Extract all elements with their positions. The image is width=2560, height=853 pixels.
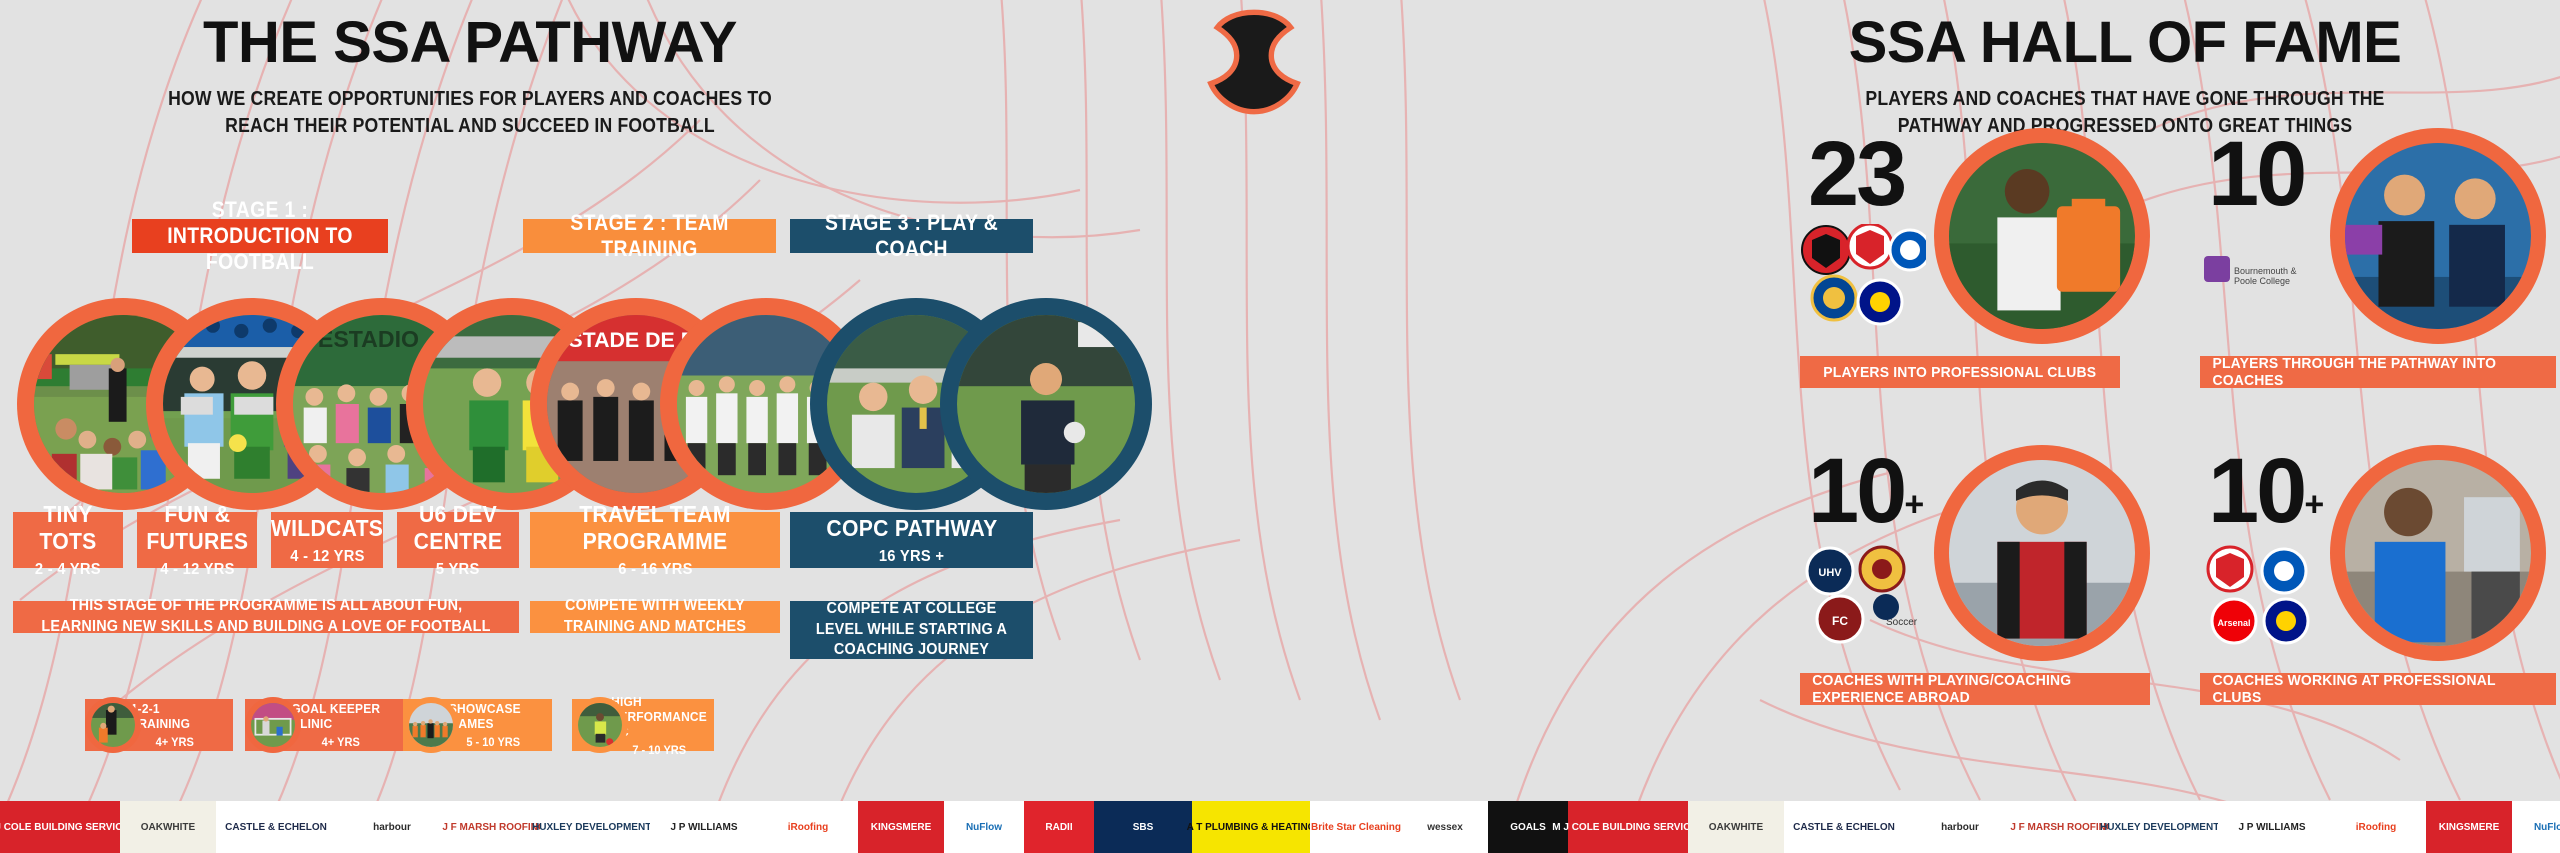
hall-of-fame-subtitle-line-1: PLAYERS AND COACHES THAT HAVE GONE THROU… <box>1751 86 2499 113</box>
sponsor-logo: J P WILLIAMS <box>650 801 758 853</box>
programme-card-copc-pathway[interactable]: COPC PATHWAY 16 YRS + <box>790 512 1033 568</box>
hof-badges-3: UHV FC Soccer <box>1800 545 1926 645</box>
photo-showcase-games <box>409 703 453 747</box>
sponsor-logo: HUXLEY DEVELOPMENTS <box>540 801 650 853</box>
hof-number: 10 <box>2208 440 2304 542</box>
extra-card-showcase-games[interactable]: SHOWCASE GAMES 5 - 10 YRS <box>403 699 552 751</box>
stage-3-banner-label: STAGE 3 : PLAY & COACH <box>805 210 1019 262</box>
photo-hof-1 <box>1949 143 2135 329</box>
programme-ages: 6 - 16 YRS <box>618 561 692 579</box>
stage-1-banner: STAGE 1 : INTRODUCTION TO FOOTBALL <box>132 219 388 253</box>
photo-circle-goal-keeper-clinic <box>245 697 301 753</box>
sponsor-logo: SBS <box>1094 801 1192 853</box>
stage-3-description: COMPETE AT COLLEGE LEVEL WHILE STARTING … <box>790 601 1033 659</box>
sponsor-logo: Brite Star Cleaning <box>1310 801 1402 853</box>
photo-circle-copc-2 <box>940 298 1152 510</box>
extra-name: GOAL KEEPER CLINIC <box>291 701 390 731</box>
pathway-subtitle-line-2: REACH THEIR POTENTIAL AND SUCCEED IN FOO… <box>92 113 849 140</box>
photo-1-2-1-training <box>91 703 135 747</box>
hof-number: 10 <box>2208 123 2304 225</box>
extra-name: SHOWCASE GAMES <box>449 701 538 731</box>
photo-hof-2 <box>2345 143 2531 329</box>
programme-ages: 2 - 4 YRS <box>35 561 101 579</box>
extra-card-goal-keeper-clinic[interactable]: GOAL KEEPER CLINIC 4+ YRS <box>245 699 405 751</box>
programme-ages: 5 YRS <box>436 561 480 579</box>
sponsor-logo: CASTLE & ECHELON <box>1784 801 1904 853</box>
photo-high-performance-dc <box>578 703 622 747</box>
photo-copc-2 <box>957 315 1135 493</box>
extra-name: 1-2-1 TRAINING <box>131 701 219 731</box>
programme-name: U6 DEV CENTRE <box>407 501 508 555</box>
programme-name: FUN & FUTURES <box>146 501 248 555</box>
sponsor-logo: iRoofing <box>758 801 858 853</box>
sponsor-logo: OAKWHITE <box>1688 801 1784 853</box>
stage-2-description-text: COMPETE WITH WEEKLY TRAINING AND MATCHES <box>548 596 762 638</box>
club-badges-group-4: Arsenal <box>2200 545 2326 645</box>
extra-card-1-2-1-training[interactable]: 1-2-1 TRAINING 4+ YRS <box>85 699 233 751</box>
programme-card-fun-futures[interactable]: FUN & FUTURES 4 - 12 YRS <box>137 512 257 568</box>
sponsor-logo: RADII <box>1024 801 1094 853</box>
programme-card-u6-dev-centre[interactable]: U6 DEV CENTRE 5 YRS <box>397 512 519 568</box>
stage-2-description: COMPETE WITH WEEKLY TRAINING AND MATCHES <box>530 601 780 633</box>
sponsor-strip: M J COLE BUILDING SERVICESOAKWHITECASTLE… <box>0 801 2560 853</box>
right-header: SSA HALL OF FAME PLAYERS AND COACHES THA… <box>1690 14 2560 139</box>
programme-ages: 4 - 12 YRS <box>290 548 364 566</box>
photo-circle-high-performance-dc <box>572 697 628 753</box>
sponsor-logo: iRoofing <box>2326 801 2426 853</box>
extra-ages: 4+ YRS <box>156 735 194 749</box>
sponsor-logo: J F MARSH ROOFING <box>2016 801 2108 853</box>
programme-name: TRAVEL TEAM PROGRAMME <box>546 501 765 555</box>
pathway-title: THE SSA PATHWAY <box>30 14 910 72</box>
photo-circle-showcase-games <box>403 697 459 753</box>
sponsor-logo: HUXLEY DEVELOPMENTS <box>2108 801 2218 853</box>
hof-number: 23 <box>1808 123 1904 225</box>
hof-number: 10 <box>1808 440 1904 542</box>
stage-1-description-text: THIS STAGE OF THE PROGRAMME IS ALL ABOUT… <box>40 596 492 638</box>
hof-caption-3: COACHES WITH PLAYING/COACHING EXPERIENCE… <box>1800 673 2150 705</box>
infographic-root: THE SSA PATHWAY HOW WE CREATE OPPORTUNIT… <box>0 0 2560 853</box>
club-badges-group-1 <box>1800 224 1926 328</box>
hof-photo-circle-4 <box>2330 445 2546 661</box>
svg-text:Poole College: Poole College <box>2234 276 2290 286</box>
svg-text:Bournemouth &: Bournemouth & <box>2234 266 2297 276</box>
hall-of-fame-item-2: 10 Bournemouth & Poole College <box>2200 128 2560 428</box>
hall-of-fame-title: SSA HALL OF FAME <box>1690 14 2560 72</box>
hof-badges-1 <box>1800 224 1926 328</box>
hof-caption-text: PLAYERS THROUGH THE PATHWAY INTO COACHES <box>2212 355 2543 389</box>
sponsor-logo: OAKWHITE <box>120 801 216 853</box>
sponsor-logo: A T PLUMBING & HEATING <box>1192 801 1310 853</box>
sponsor-logo: NuFlow <box>2512 801 2560 853</box>
sponsor-logo: wessex <box>1402 801 1488 853</box>
ssa-shield-logo <box>1200 8 1308 116</box>
hof-caption-2: PLAYERS THROUGH THE PATHWAY INTO COACHES <box>2200 356 2556 388</box>
programme-name: TINY TOTS <box>23 501 113 555</box>
hof-badges-4: Arsenal <box>2200 545 2326 645</box>
sponsor-logo: NuFlow <box>944 801 1024 853</box>
photo-hof-3 <box>1949 460 2135 646</box>
stage-3-banner: STAGE 3 : PLAY & COACH <box>790 219 1033 253</box>
stage-1-description: THIS STAGE OF THE PROGRAMME IS ALL ABOUT… <box>13 601 519 633</box>
hof-caption-1: PLAYERS INTO PROFESSIONAL CLUBS <box>1800 356 2120 388</box>
hof-plus: + <box>1904 486 1924 524</box>
hof-photo-circle-2 <box>2330 128 2546 344</box>
svg-text:ESTADIO: ESTADIO <box>318 326 419 352</box>
programme-ages: 16 YRS + <box>879 548 944 566</box>
programme-card-wildcats[interactable]: WILDCATS 4 - 12 YRS <box>271 512 383 568</box>
stage-1-banner-label: STAGE 1 : INTRODUCTION TO FOOTBALL <box>147 197 372 275</box>
hof-caption-text: COACHES WITH PLAYING/COACHING EXPERIENCE… <box>1812 672 2138 706</box>
svg-text:Arsenal: Arsenal <box>2217 618 2250 628</box>
left-header: THE SSA PATHWAY HOW WE CREATE OPPORTUNIT… <box>30 14 910 139</box>
hof-caption-text: PLAYERS INTO PROFESSIONAL CLUBS <box>1824 364 2097 381</box>
photo-goal-keeper-clinic <box>251 703 295 747</box>
sponsor-logo: KINGSMERE <box>858 801 944 853</box>
programme-name: WILDCATS <box>271 515 383 542</box>
sponsor-logo: M J COLE BUILDING SERVICES <box>0 801 120 853</box>
sponsor-logo: J F MARSH ROOFING <box>448 801 540 853</box>
svg-text:FC: FC <box>1832 614 1848 628</box>
club-badges-group-3: UHV FC Soccer <box>1800 545 1926 645</box>
hall-of-fame-item-4: 10+ Arsenal <box>2200 445 2560 745</box>
sponsor-logo: harbour <box>1904 801 2016 853</box>
programme-card-tiny-tots[interactable]: TINY TOTS 2 - 4 YRS <box>13 512 123 568</box>
hof-caption-4: COACHES WORKING AT PROFESSIONAL CLUBS <box>2200 673 2556 705</box>
sponsor-logo: J P WILLIAMS <box>2218 801 2326 853</box>
sponsor-logo: harbour <box>336 801 448 853</box>
extra-ages: 5 - 10 YRS <box>467 735 521 749</box>
hall-of-fame-item-3: 10+ UHV FC <box>1800 445 2150 745</box>
stage-2-banner: STAGE 2 : TEAM TRAINING <box>523 219 776 253</box>
programme-card-travel-team[interactable]: TRAVEL TEAM PROGRAMME 6 - 16 YRS <box>530 512 780 568</box>
pathway-subtitle-line-1: HOW WE CREATE OPPORTUNITIES FOR PLAYERS … <box>92 86 849 113</box>
hall-of-fame-item-1: 23 <box>1800 128 2150 428</box>
sponsor-logo: KINGSMERE <box>2426 801 2512 853</box>
sponsor-logo: CASTLE & ECHELON <box>216 801 336 853</box>
hof-badges-2: Bournemouth & Poole College <box>2204 238 2324 308</box>
hof-plus: + <box>2304 486 2324 524</box>
extra-ages: 7 - 10 YRS <box>632 743 686 757</box>
programme-name: COPC PATHWAY <box>826 515 997 542</box>
extra-ages: 4+ YRS <box>322 735 360 749</box>
programme-ages: 4 - 12 YRS <box>160 561 234 579</box>
photo-circle-1-2-1-training <box>85 697 141 753</box>
photo-hof-4 <box>2345 460 2531 646</box>
stage-2-banner-label: STAGE 2 : TEAM TRAINING <box>538 210 761 262</box>
hof-caption-text: COACHES WORKING AT PROFESSIONAL CLUBS <box>2212 672 2543 706</box>
svg-text:UHV: UHV <box>1818 567 1842 579</box>
sponsor-logo: M J COLE BUILDING SERVICES <box>1568 801 1688 853</box>
hof-photo-circle-3 <box>1934 445 2150 661</box>
club-badges-group-2: Bournemouth & Poole College <box>2204 238 2324 308</box>
stage-3-description-text: COMPETE AT COLLEGE LEVEL WHILE STARTING … <box>808 599 1015 662</box>
extra-card-high-performance-dc[interactable]: HIGH PERFORMANCE DC 7 - 10 YRS <box>572 699 714 751</box>
hof-photo-circle-1 <box>1934 128 2150 344</box>
